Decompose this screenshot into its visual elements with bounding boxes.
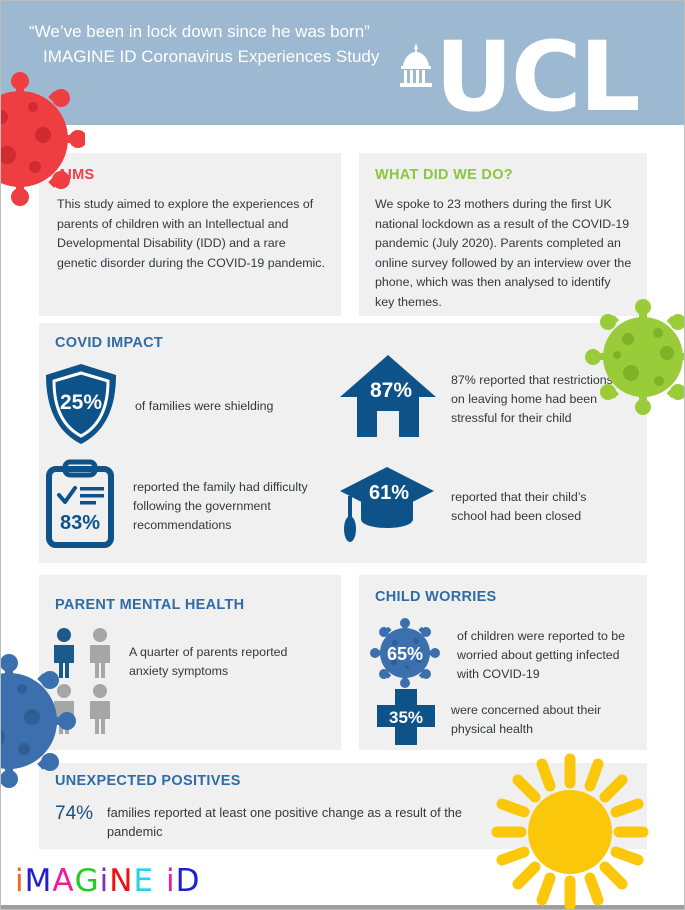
clipboard-icon: 83% [43, 459, 119, 554]
logo-letter: G [75, 863, 100, 899]
person-figure-grey [49, 683, 79, 735]
virus-icon: 65% [367, 615, 443, 696]
shield-percent-value: 25% [60, 391, 102, 414]
unexpected-positives-value: 74% [55, 804, 93, 823]
covid-stat-school-closed-text: reported that their child’s school had b… [451, 488, 619, 526]
house-percent-value: 87% [370, 379, 412, 402]
ucl-logo: UCL [399, 37, 639, 117]
child-stat-physical-health: 35% were concerned about their physical … [375, 687, 633, 752]
child-stat-infection-worry: 65% of children were reported to be worr… [367, 615, 643, 696]
covid-stat-school-closed: 61% reported that their child’s school h… [337, 463, 619, 550]
ucl-dome-icon [399, 43, 433, 94]
footer-bar [1, 905, 685, 910]
covid-impact-title: COVID IMPACT [55, 335, 163, 351]
covid-stat-recommendations-text: reported the family had difficulty follo… [133, 478, 339, 535]
parent-mental-health-title: PARENT MENTAL HEALTH [55, 597, 244, 613]
logo-letter: N [109, 863, 133, 899]
person-figure-grey [85, 627, 115, 679]
covid-stat-recommendations: 83% reported the family had difficulty f… [43, 459, 339, 554]
infographic-poster: “We’ve been in lock down since he was bo… [0, 0, 685, 910]
clipboard-percent-value: 83% [60, 512, 100, 534]
header-quote: “We’ve been in lock down since he was bo… [29, 19, 419, 44]
cross-percent-value: 35% [389, 708, 423, 727]
covid-stat-restrictions: 87% 87% reported that restrictions on le… [339, 353, 613, 446]
house-icon: 87% [339, 353, 437, 446]
logo-letter: i [166, 863, 176, 899]
what-did-we-do-body: We spoke to 23 mothers during the first … [375, 195, 633, 312]
imagine-id-logo: iMAGiNEiD [15, 863, 201, 899]
child-stat-physical-health-text: were concerned about their physical heal… [451, 701, 633, 739]
shield-icon: 25% [41, 361, 121, 452]
logo-letter: A [52, 863, 74, 899]
child-worries-title: CHILD WORRIES [375, 589, 497, 605]
covid-stat-shielding-text: of families were shielding [135, 397, 335, 416]
logo-letter: E [133, 863, 154, 899]
covid-stat-restrictions-text: 87% reported that restrictions on leavin… [451, 371, 613, 428]
ucl-wordmark: UCL [435, 37, 639, 117]
logo-letter: M [25, 863, 53, 899]
medical-cross-icon: 35% [375, 687, 437, 752]
parent-mental-health-text: A quarter of parents reported anxiety sy… [129, 643, 299, 681]
what-did-we-do-title: WHAT DID WE DO? [375, 167, 513, 183]
graduation-cap-icon: 61% [337, 463, 437, 550]
logo-letter: D [176, 863, 201, 899]
unexpected-positives-title: UNEXPECTED POSITIVES [55, 773, 241, 789]
logo-letter: i [100, 863, 110, 899]
person-figures-icon [49, 627, 115, 735]
logo-letter: i [15, 863, 25, 899]
cap-percent-value: 61% [369, 482, 409, 504]
person-figure-highlighted [49, 627, 79, 679]
virus-percent-value: 65% [387, 644, 423, 664]
header-title-group: “We’ve been in lock down since he was bo… [29, 19, 419, 69]
header-banner: “We’ve been in lock down since he was bo… [1, 1, 685, 125]
aims-panel: AIMS This study aimed to explore the exp… [39, 153, 341, 316]
person-figure-grey [85, 683, 115, 735]
header-subtitle: IMAGINE ID Coronavirus Experiences Study [29, 44, 419, 69]
aims-title: AIMS [57, 167, 94, 183]
unexpected-positives-text: families reported at least one positive … [107, 803, 477, 841]
covid-stat-shielding: 25% of families were shielding [41, 361, 335, 452]
child-stat-infection-worry-text: of children were reported to be worried … [457, 627, 643, 684]
what-did-we-do-panel: WHAT DID WE DO? We spoke to 23 mothers d… [359, 153, 647, 316]
unexpected-positives-stat: 74% families reported at least one posit… [55, 803, 477, 841]
aims-body: This study aimed to explore the experien… [57, 195, 325, 273]
